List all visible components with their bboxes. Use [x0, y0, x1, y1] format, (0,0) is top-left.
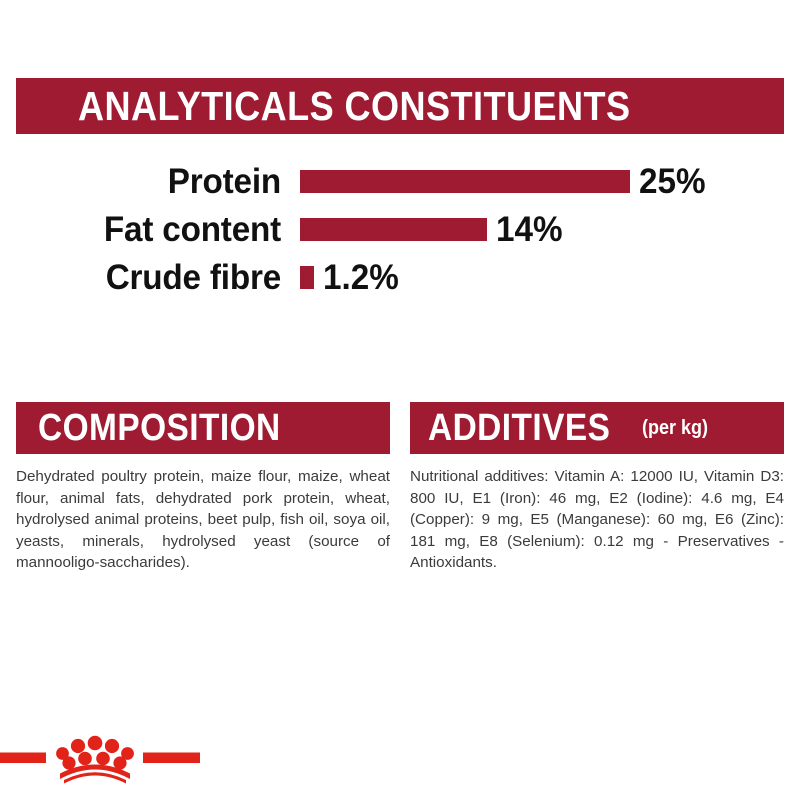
- composition-banner: COMPOSITION: [16, 402, 390, 454]
- additives-per-kg-label: (per kg): [642, 417, 708, 440]
- logo-left-bar: [0, 753, 46, 764]
- bar-zone: 25%: [300, 158, 709, 204]
- product-info-page: ANALYTICALS CONSTITUENTS Protein 25% Fat…: [0, 0, 800, 800]
- additives-text: Nutritional additives: Vitamin A: 12000 …: [410, 466, 784, 574]
- royal-canin-crown-logo: [0, 720, 200, 786]
- bar-label-crude-fibre: Crude fibre: [14, 260, 281, 295]
- crown-dot-low-1: [62, 756, 75, 769]
- crown-dot-low-3: [96, 752, 110, 766]
- bar-zone: 1.2%: [300, 254, 403, 300]
- chart-row: Crude fibre 1.2%: [0, 254, 800, 300]
- crown-dot-top-2: [71, 739, 85, 753]
- additives-title: ADDITIVES: [428, 409, 610, 447]
- composition-text: Dehydrated poultry protein, maize flour,…: [16, 466, 390, 574]
- logo-right-bar: [143, 753, 200, 764]
- crown-dot-low-2: [78, 752, 92, 766]
- crown-dot-top-4: [105, 739, 119, 753]
- analyticals-constituents-banner: ANALYTICALS CONSTITUENTS: [16, 78, 784, 134]
- crown-arc-inner: [64, 772, 126, 783]
- bar-value-crude-fibre: 1.2%: [323, 260, 399, 295]
- bar-value-fat-content: 14%: [496, 212, 563, 247]
- additives-banner: ADDITIVES (per kg): [410, 402, 784, 454]
- crown-icon: [0, 736, 200, 784]
- chart-row: Protein 25%: [0, 158, 800, 204]
- composition-title: COMPOSITION: [38, 409, 281, 447]
- analyticals-bar-chart: Protein 25% Fat content 14% Crude fibre …: [0, 150, 800, 310]
- bar-value-protein: 25%: [639, 164, 706, 199]
- bar-label-protein: Protein: [14, 164, 281, 199]
- chart-row: Fat content 14%: [0, 206, 800, 252]
- bar-protein: [300, 170, 630, 193]
- bar-zone: 14%: [300, 206, 566, 252]
- bar-crude-fibre: [300, 266, 314, 289]
- crown-dot-top-3: [88, 736, 103, 751]
- analyticals-constituents-title: ANALYTICALS CONSTITUENTS: [78, 86, 630, 127]
- bar-fat-content: [300, 218, 487, 241]
- bar-label-fat-content: Fat content: [14, 212, 281, 247]
